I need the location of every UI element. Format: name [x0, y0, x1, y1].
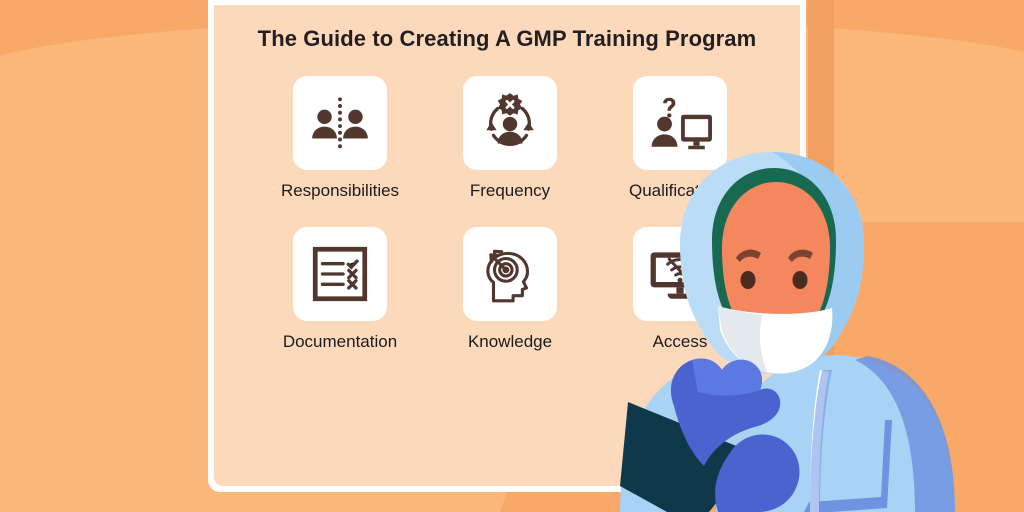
eye-right [793, 271, 808, 289]
head-target-arrow-icon [477, 241, 543, 307]
illustration-canvas: The Guide to Creating A GMP Training Pro… [0, 0, 1024, 512]
page-title: The Guide to Creating A GMP Training Pro… [214, 26, 800, 52]
ppe-worker-figure [620, 120, 1024, 512]
grid-item-documentation[interactable]: Documentation [260, 227, 420, 352]
browser-titlebar-separator [214, 0, 800, 5]
eye-left [741, 271, 756, 289]
glove-fingers-highlight [692, 358, 762, 395]
grid-label-documentation: Documentation [283, 332, 397, 352]
ppe-worker-illustration [620, 120, 1024, 512]
grid-item-responsibilities[interactable]: Responsibilities [260, 76, 420, 201]
tile-responsibilities[interactable] [293, 76, 387, 170]
grid-label-knowledge: Knowledge [468, 332, 552, 352]
tile-knowledge[interactable] [463, 227, 557, 321]
two-people-divided-icon [307, 90, 373, 156]
grid-item-frequency[interactable]: Frequency [430, 76, 590, 201]
grid-label-responsibilities: Responsibilities [281, 181, 399, 201]
grid-label-frequency: Frequency [470, 181, 550, 201]
checklist-clipboard-icon [307, 241, 373, 307]
grid-item-knowledge[interactable]: Knowledge [430, 227, 590, 352]
tile-documentation[interactable] [293, 227, 387, 321]
tile-frequency[interactable] [463, 76, 557, 170]
person-recurring-cycle-icon [477, 90, 543, 156]
